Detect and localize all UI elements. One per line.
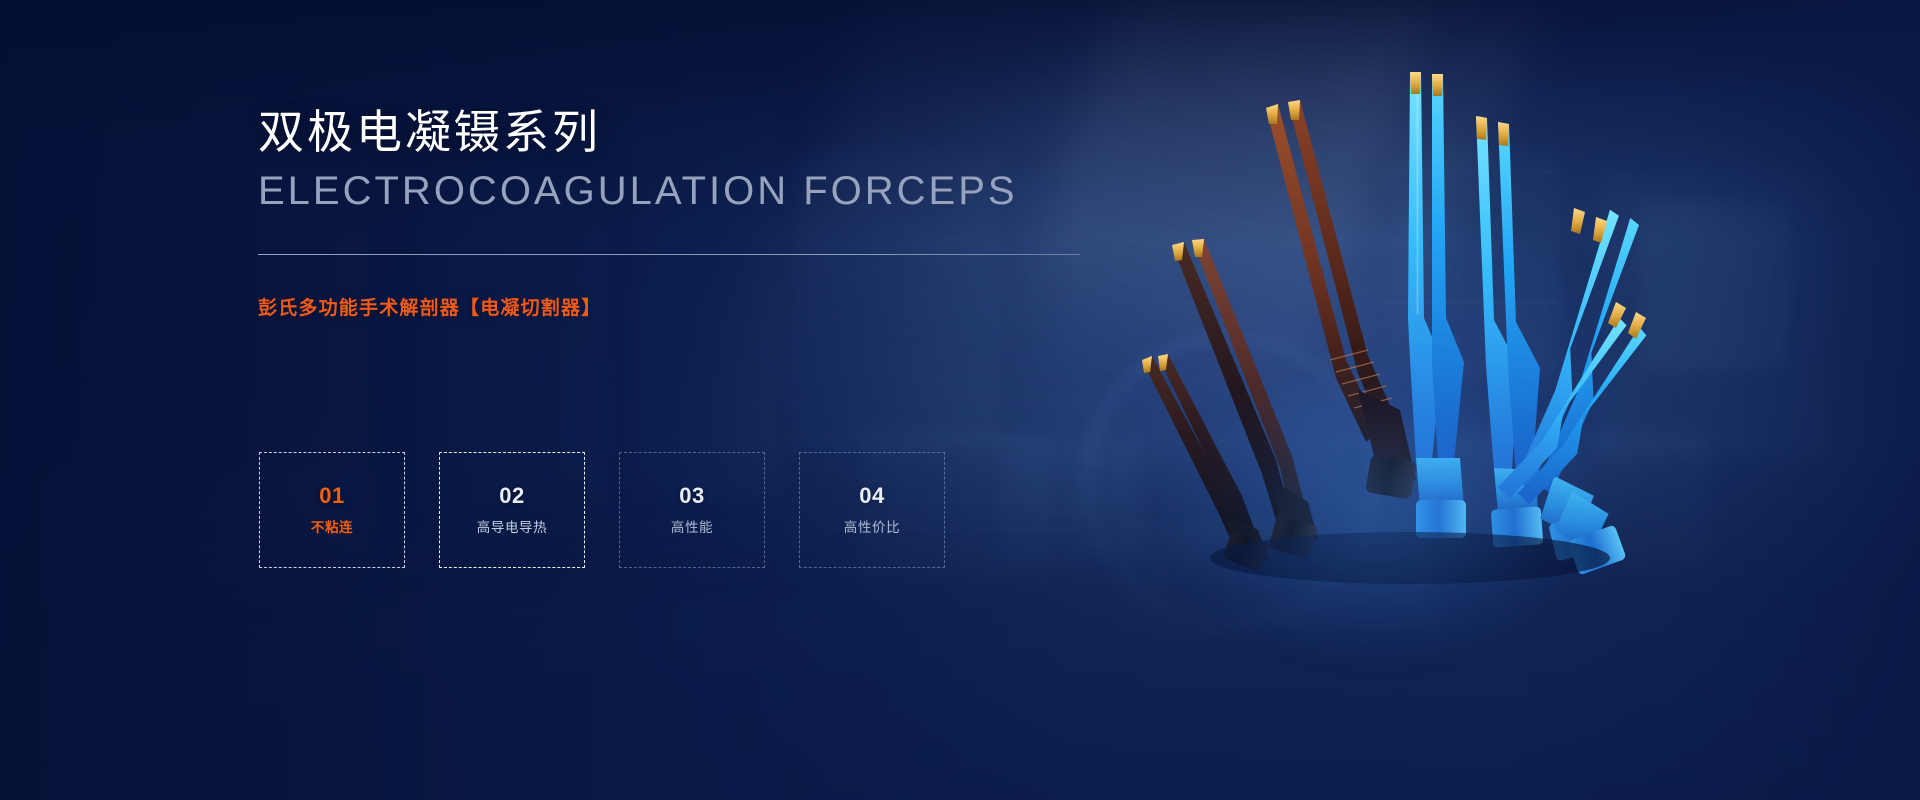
feature-number: 02 [499,485,524,507]
feature-box-04[interactable]: 04 高性价比 [799,452,945,568]
feature-box-list: 01 不粘连 02 高导电导热 03 高性能 04 高性价比 [259,452,945,568]
hero-banner: 双极电凝镊系列 ELECTROCOAGULATION FORCEPS 彭氏多功能… [0,0,1920,800]
feature-number: 01 [319,485,344,507]
feature-label: 不粘连 [311,521,353,535]
hero-copy: 双极电凝镊系列 ELECTROCOAGULATION FORCEPS 彭氏多功能… [258,104,1158,320]
feature-label: 高导电导热 [477,521,548,535]
feature-box-03[interactable]: 03 高性能 [619,452,765,568]
page-title-en: ELECTROCOAGULATION FORCEPS [258,167,1158,216]
feature-label: 高性能 [671,521,713,535]
feature-box-02[interactable]: 02 高导电导热 [439,452,585,568]
feature-number: 03 [679,485,704,507]
divider-rule [258,254,1080,255]
feature-box-01[interactable]: 01 不粘连 [259,452,405,568]
page-title-cn: 双极电凝镊系列 [258,104,1158,161]
forceps-blue-group [1408,72,1648,575]
feature-number: 04 [859,485,884,507]
product-subtitle: 彭氏多功能手术解剖器【电凝切割器】 [258,293,1158,320]
forceps-product-image [1080,60,1640,580]
forceps-bronze-group [1142,100,1417,572]
feature-label: 高性价比 [844,521,900,535]
